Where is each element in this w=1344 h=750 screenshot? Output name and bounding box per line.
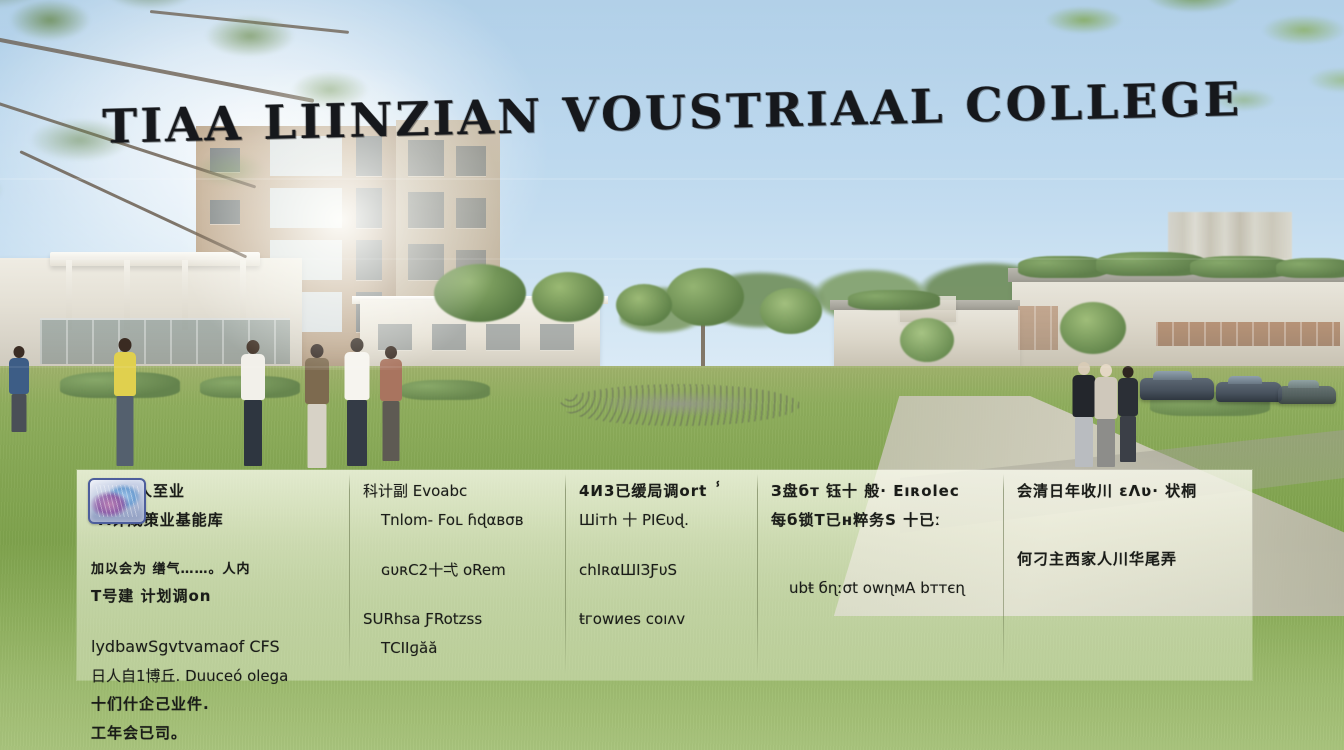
info-line: Tnlom- Foʟ ɦɖαвσв	[363, 513, 555, 529]
person-figure	[302, 344, 332, 470]
person-figure	[1116, 366, 1140, 462]
info-line: 加以会为 缮气……。人内	[91, 563, 339, 577]
college-emblem-icon	[88, 478, 146, 524]
info-line: 4И3已缓局调ort ⸯ	[579, 484, 747, 500]
parked-car	[1216, 382, 1282, 402]
info-column-3: 4И3已缓局调ort ⸯ Шітh 十 PІЄυɖ. ᴄհІʀαШІЗƑυS ŧ…	[565, 470, 757, 680]
info-line: TСІІɡӑӑ	[363, 641, 555, 657]
tree-canopy	[760, 288, 822, 334]
info-line: T号建 计划调on	[91, 589, 339, 605]
info-line: lydbawSgvtvamaof CFS	[91, 639, 339, 656]
info-line: ɢυʀС2十弌 oRem	[363, 563, 555, 579]
parked-car	[1278, 386, 1336, 404]
info-line: З盘бт 钰十 般· Eıʀoleс	[771, 484, 993, 500]
info-line: 科计副 Evoabc	[363, 484, 555, 500]
person-figure	[378, 346, 404, 464]
info-line: 工年会已司。	[91, 726, 339, 742]
right-building-windows	[1156, 322, 1340, 346]
info-column-1: 手人至业 A计成策业基能库 加以会为 缮气……。人内 T号建 计划调on lyd…	[77, 470, 349, 680]
info-column-2: 科计副 Evoabc Tnlom- Foʟ ɦɖαвσв ɢυʀС2十弌 oRe…	[349, 470, 565, 680]
parked-car	[1140, 378, 1214, 400]
info-line: ᴄհІʀαШІЗƑυS	[579, 563, 747, 579]
info-line: ŧгowиes coıʌv	[579, 612, 747, 628]
info-line: 十们什企己业件.	[91, 697, 339, 713]
info-line: ubŧ бɳːσt owɳмА bттєɳ	[771, 581, 993, 597]
campus-banner-image: TIAA LIINZIAN VOUSTRIAAL COLLEGE 手人至业 A计…	[0, 0, 1344, 750]
person-figure	[110, 338, 140, 470]
person-figure	[238, 340, 268, 468]
info-column-5: 会清日年收川 εΛʋ· 状桐 何刁主西家人川华尾弄	[1003, 470, 1252, 680]
foreground-tree-right	[1024, 0, 1344, 150]
person-figure	[6, 346, 32, 432]
tree-canopy	[666, 268, 744, 326]
info-column-4: З盘бт 钰十 般· Eıʀoleс 每б锁T已н粹务S 十已ː ubŧ бɳː…	[757, 470, 1003, 680]
gravel-mound	[560, 384, 800, 426]
info-line: Шітh 十 PІЄυɖ.	[579, 513, 747, 529]
info-line: SURhsa ƑRotzss	[363, 612, 555, 628]
tree-canopy	[616, 284, 672, 326]
info-line: 日人自1博丘. Duuceó olega	[91, 669, 339, 685]
tree-canopy	[532, 272, 604, 322]
info-line: 会清日年收川 εΛʋ· 状桐	[1017, 484, 1242, 500]
tree-canopy	[1060, 302, 1126, 354]
info-panel: 手人至业 A计成策业基能库 加以会为 缮气……。人内 T号建 计划调on lyd…	[77, 470, 1252, 680]
tree-canopy	[900, 318, 954, 362]
person-figure	[342, 338, 372, 468]
tree-canopy	[434, 264, 526, 322]
info-line: 何刁主西家人川华尾弄	[1017, 552, 1242, 568]
info-line: 每б锁T已н粹务S 十已ː	[771, 513, 993, 529]
foreground-tree-left	[0, 0, 490, 270]
entry-glass	[1018, 306, 1058, 350]
